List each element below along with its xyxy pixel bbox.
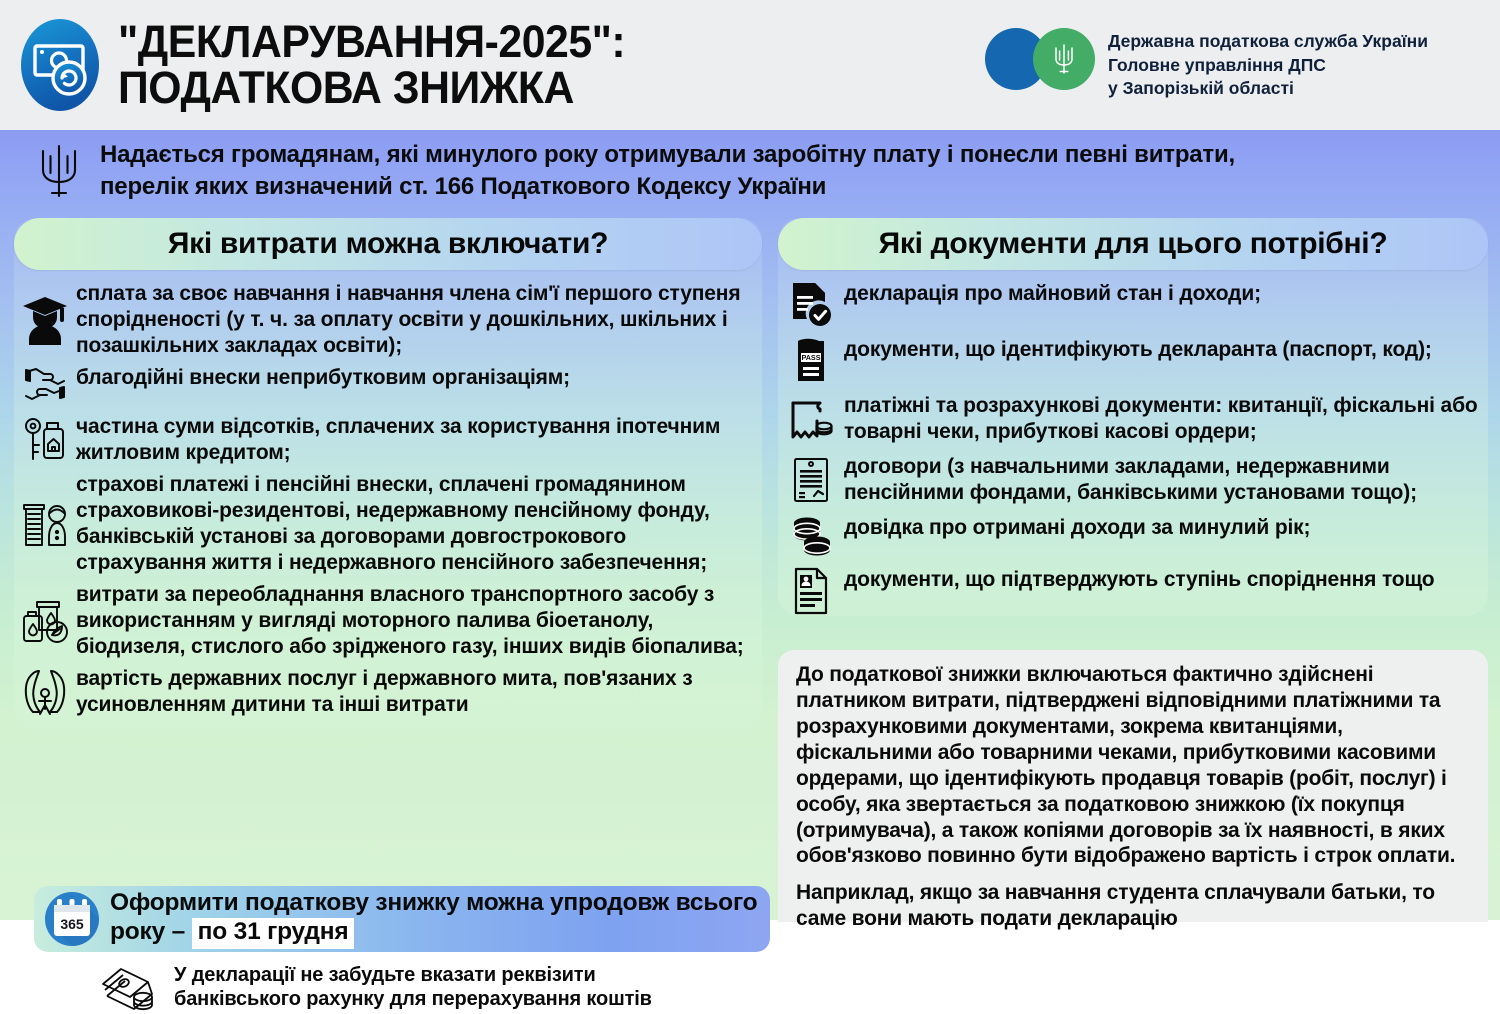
cash-stack-icon xyxy=(92,960,174,1014)
page-title: "ДЕКЛАРУВАННЯ-2025": ПОДАТКОВА ЗНИЖКА xyxy=(118,19,652,111)
expenses-panel: Які витрати можна включати? xyxy=(14,218,762,729)
list-item: декларація про майновий стан і доходи; xyxy=(778,280,1488,328)
documents-heading-label: Які документи для цього потрібні? xyxy=(879,227,1388,261)
list-item: платіжні та розрахункові документи: квит… xyxy=(778,392,1488,445)
biofuel-icon xyxy=(14,596,76,646)
svg-text:PASS: PASS xyxy=(801,353,820,362)
eligibility-statement: Надається громадянам, які минулого року … xyxy=(0,130,1500,212)
infographic-canvas: Надається громадянам, які минулого року … xyxy=(0,130,1500,920)
dps-organization: Державна податкова служба України xyxy=(1108,29,1428,54)
list-item: сплата за своє навчання і навчання члена… xyxy=(14,280,762,359)
list-item-label: декларація про майновий стан і доходи; xyxy=(844,280,1261,307)
list-item: документи, що підтверджують ступінь спор… xyxy=(778,566,1488,616)
calendar-365-icon: 365 xyxy=(34,890,110,948)
coins-stack-icon xyxy=(778,514,844,558)
charity-hands-icon xyxy=(14,364,76,408)
adoption-hands-icon xyxy=(14,667,76,717)
dps-logo-circles xyxy=(985,28,1095,90)
deadline-text: Оформити податкову знижку можна упродовж… xyxy=(110,889,770,948)
expenses-heading-label: Які витрати можна включати? xyxy=(168,227,608,261)
dps-green-circle xyxy=(1033,28,1095,90)
trident-icon xyxy=(1052,42,1076,76)
list-item-label: страхові платежі і пенсійні внески, спла… xyxy=(76,471,762,576)
bank-account-note: У декларації не забудьте вказати реквізи… xyxy=(92,960,772,1014)
svg-text:365: 365 xyxy=(60,916,84,932)
passport-icon: PASS xyxy=(778,336,844,384)
trident-icon xyxy=(30,140,88,202)
bank-account-note-text: У декларації не забудьте вказати реквізи… xyxy=(174,963,652,1012)
list-item-label: вартість державних послуг і державного м… xyxy=(76,665,762,718)
list-item: довідка про отримані доходи за минулий р… xyxy=(778,514,1488,558)
tax-discount-note-card: До податкової знижки включаються фактичн… xyxy=(778,650,1488,922)
list-item: частина суми відсотків, сплачених за кор… xyxy=(14,413,762,466)
dps-logo: Державна податкова служба України Головн… xyxy=(985,28,1428,100)
insurance-pension-icon xyxy=(14,497,76,551)
eligibility-line-2: перелік яких визначений ст. 166 Податков… xyxy=(100,171,1235,203)
id-document-icon xyxy=(778,566,844,616)
list-item-label: частина суми відсотків, сплачених за кор… xyxy=(76,413,762,466)
list-item: благодійні внески неприбутковим організа… xyxy=(14,364,762,408)
left-column: Які витрати можна включати? xyxy=(14,218,762,729)
eligibility-line-1: Надається громадянам, які минулого року … xyxy=(100,139,1235,171)
list-item-label: довідка про отримані доходи за минулий р… xyxy=(844,514,1310,541)
list-item: PASS документи, що ідентифікують деклара… xyxy=(778,336,1488,384)
list-item-label: документи, що підтверджують ступінь спор… xyxy=(844,566,1434,593)
dps-department-line-2: у Запорізькій області xyxy=(1108,77,1428,100)
list-item-label: документи, що ідентифікують декларанта (… xyxy=(844,336,1432,363)
dps-text-block: Державна податкова служба України Головн… xyxy=(1108,28,1428,100)
list-item-label: витрати за переобладнання власного транс… xyxy=(76,581,762,660)
document-check-icon xyxy=(778,280,844,328)
documents-panel: Які документи для цього потрібні? xyxy=(778,218,1488,616)
list-item: витрати за переобладнання власного транс… xyxy=(14,581,762,660)
list-item: вартість державних послуг і державного м… xyxy=(14,665,762,718)
note-paragraph-1: До податкової знижки включаються фактичн… xyxy=(796,662,1474,869)
list-item-label: сплата за своє навчання і навчання члена… xyxy=(76,280,762,359)
note-paragraph-2: Наприклад, якщо за навчання студента спл… xyxy=(796,880,1474,932)
dps-department-line-1: Головне управління ДПС xyxy=(1108,54,1428,77)
list-item: договори (з навчальними закладами, недер… xyxy=(778,453,1488,506)
documents-list: декларація про майновий стан і доходи; P… xyxy=(778,270,1488,616)
money-refund-icon xyxy=(16,15,104,115)
page-header: "ДЕКЛАРУВАННЯ-2025": ПОДАТКОВА ЗНИЖКА Де… xyxy=(0,0,1500,130)
eligibility-statement-text: Надається громадянам, які минулого року … xyxy=(100,139,1235,203)
graduate-icon xyxy=(14,293,76,347)
contract-icon xyxy=(778,455,844,505)
list-item-label: договори (з навчальними закладами, недер… xyxy=(844,453,1488,506)
house-keys-icon xyxy=(14,415,76,465)
list-item: страхові платежі і пенсійні внески, спла… xyxy=(14,471,762,576)
documents-heading: Які документи для цього потрібні? xyxy=(778,218,1488,270)
deadline-banner: 365 Оформити податкову знижку можна упро… xyxy=(34,886,770,952)
title-line-2: ПОДАТКОВА ЗНИЖКА xyxy=(118,65,625,111)
list-item-label: платіжні та розрахункові документи: квит… xyxy=(844,392,1488,445)
expenses-list: сплата за своє навчання і навчання члена… xyxy=(14,270,762,718)
right-column: Які документи для цього потрібні? xyxy=(778,218,1488,624)
expenses-heading: Які витрати можна включати? xyxy=(14,218,762,270)
deadline-highlight: по 31 грудня xyxy=(192,918,355,948)
list-item-label: благодійні внески неприбутковим організа… xyxy=(76,364,570,391)
bank-note-line-1: У декларації не забудьте вказати реквізи… xyxy=(174,963,652,987)
receipt-coins-icon xyxy=(778,395,844,443)
title-line-1: "ДЕКЛАРУВАННЯ-2025": xyxy=(118,19,625,65)
bank-note-line-2: банківського рахунку для перерахування к… xyxy=(174,987,652,1011)
